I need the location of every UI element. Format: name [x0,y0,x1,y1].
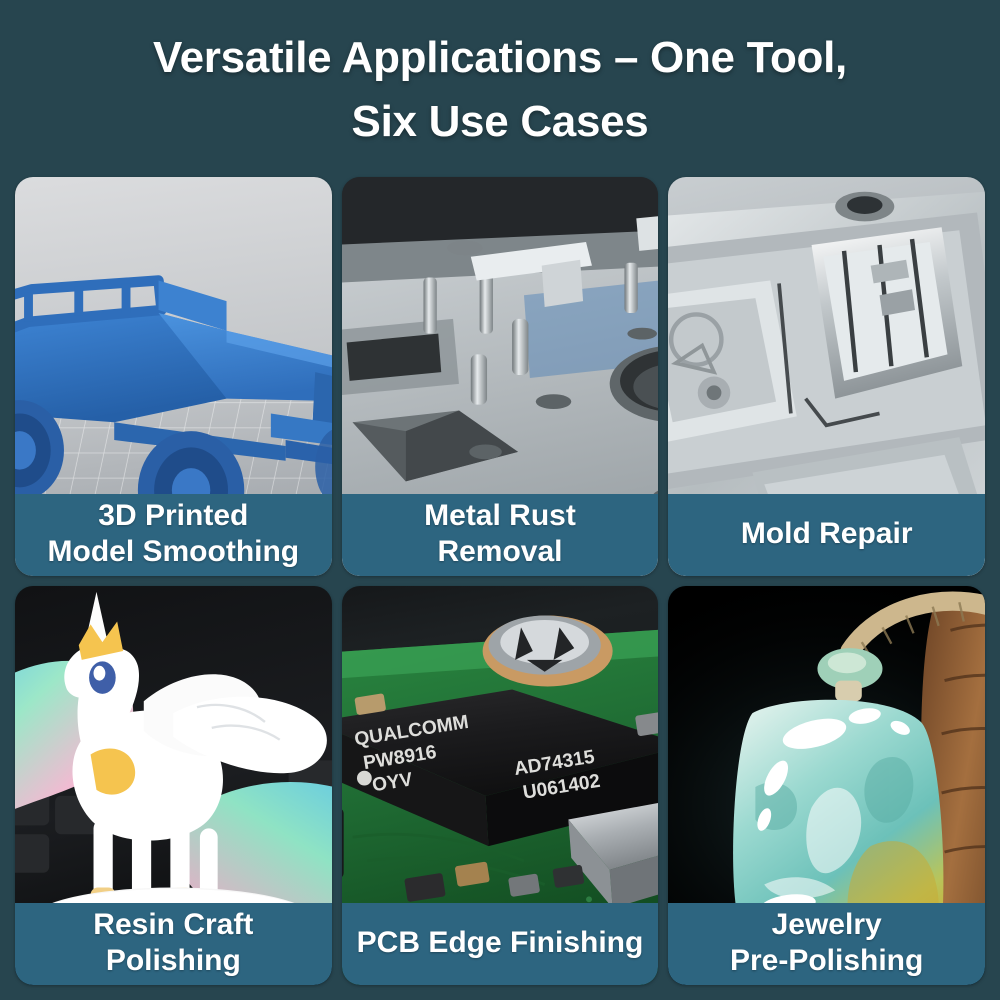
page-title-line-2: Six Use Cases [0,90,1000,154]
use-case-grid: 3D Printed Model Smoothing [15,177,985,985]
use-case-card-mold-repair[interactable]: Mold Repair [668,177,985,576]
use-case-card-3d-printed-model-smoothing[interactable]: 3D Printed Model Smoothing [15,177,332,576]
card-caption-mold-repair: Mold Repair [668,494,985,576]
use-case-card-resin-craft-polishing[interactable]: Resin Craft Polishing [15,586,332,985]
infographic-page: Versatile Applications – One Tool, Six U… [0,0,1000,1000]
card-caption-metal-rust-removal: Metal Rust Removal [342,494,659,576]
card-caption-pcb-edge-finishing: PCB Edge Finishing [342,903,659,985]
page-title-line-1: Versatile Applications – One Tool, [0,26,1000,90]
card-caption-resin-craft-polishing: Resin Craft Polishing [15,903,332,985]
card-caption-3d-printed-model-smoothing: 3D Printed Model Smoothing [15,494,332,576]
page-title: Versatile Applications – One Tool, Six U… [0,26,1000,154]
use-case-card-metal-rust-removal[interactable]: Metal Rust Removal [342,177,659,576]
card-caption-jewelry-pre-polishing: Jewelry Pre-Polishing [668,903,985,985]
use-case-card-jewelry-pre-polishing[interactable]: Jewelry Pre-Polishing [668,586,985,985]
use-case-card-pcb-edge-finishing[interactable]: QUALCOMM PW8916 OYV AD74315 U061402 [342,586,659,985]
